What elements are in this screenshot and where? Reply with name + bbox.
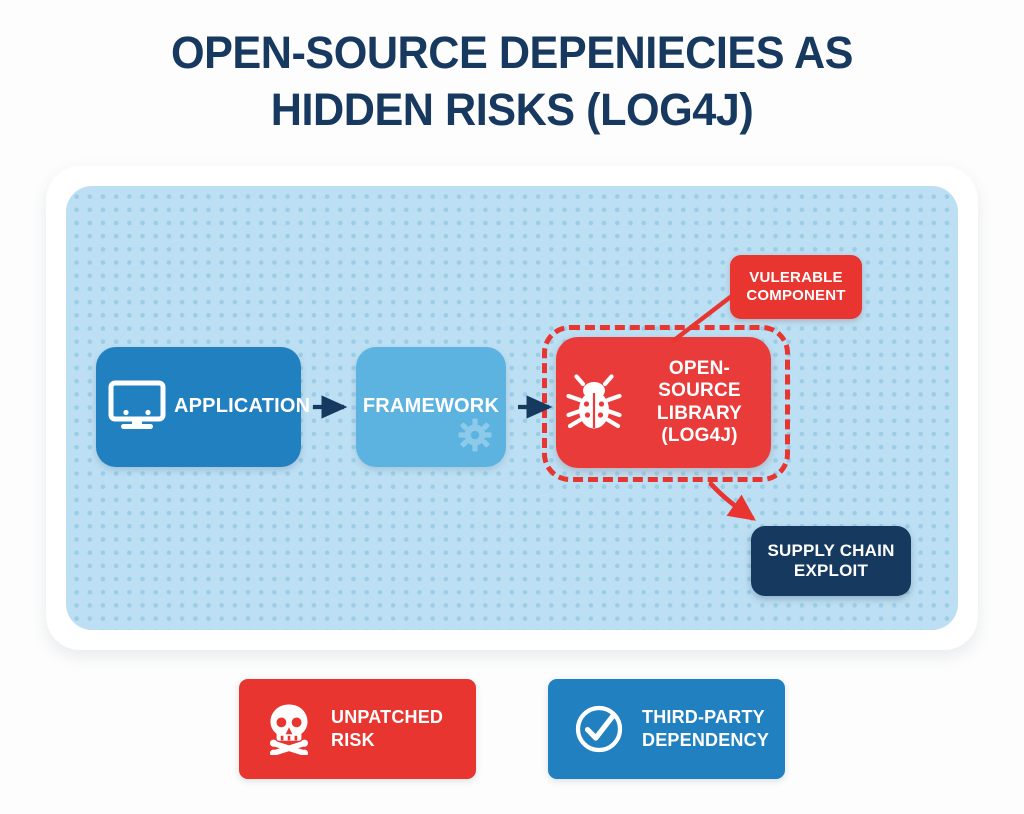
- page-title: OPEN-SOURCE DEPENIECIES AS HIDDEN RISKS …: [0, 24, 1024, 138]
- node-exploit-label-line-2: EXPLOIT: [794, 561, 868, 580]
- legend: UNPATCHED RISK THIRD-PARTY DEPENDENCY: [0, 679, 1024, 779]
- gear-icon: [458, 418, 492, 457]
- callout-vulnerable-component[interactable]: VULERABLE COMPONENT: [730, 255, 862, 319]
- legend-unpatched-line-1: UNPATCHED: [331, 707, 443, 727]
- node-exploit-label: SUPPLY CHAIN EXPLOIT: [767, 541, 894, 581]
- check-circle-icon: [574, 704, 624, 754]
- legend-unpatched-line-2: RISK: [331, 730, 375, 750]
- callout-vulnerable-line-1: VULERABLE: [749, 269, 842, 286]
- callout-vulnerable-label: VULERABLE COMPONENT: [746, 269, 845, 304]
- infographic-canvas: OPEN-SOURCE DEPENIECIES AS HIDDEN RISKS …: [0, 0, 1024, 814]
- page-title-line-2: HIDDEN RISKS (LOG4J): [20, 81, 1003, 138]
- node-framework-label: FRAMEWORK: [363, 395, 499, 419]
- node-library-label-line-1: OPEN-SOURCE: [658, 358, 741, 401]
- node-exploit-label-line-1: SUPPLY CHAIN: [767, 541, 894, 560]
- bug-icon: [566, 374, 622, 432]
- legend-thirdparty-line-2: DEPENDENCY: [642, 730, 769, 750]
- skull-crossbones-icon: [265, 703, 313, 755]
- page-title-line-1: OPEN-SOURCE DEPENIECIES AS: [20, 24, 1003, 81]
- desktop-monitor-icon: [108, 380, 166, 434]
- node-library-label-line-2: LIBRARY: [657, 403, 742, 424]
- node-application[interactable]: APPLICATION: [96, 347, 301, 467]
- node-library-label: OPEN-SOURCE LIBRARY (LOG4J): [628, 358, 771, 448]
- node-framework[interactable]: FRAMEWORK: [356, 347, 506, 467]
- legend-unpatched-label: UNPATCHED RISK: [331, 706, 443, 753]
- node-open-source-library[interactable]: OPEN-SOURCE LIBRARY (LOG4J): [556, 337, 771, 468]
- legend-item-third-party-dependency[interactable]: THIRD-PARTY DEPENDENCY: [548, 679, 785, 779]
- legend-item-unpatched-risk[interactable]: UNPATCHED RISK: [239, 679, 476, 779]
- legend-thirdparty-line-1: THIRD-PARTY: [642, 707, 765, 727]
- legend-thirdparty-label: THIRD-PARTY DEPENDENCY: [642, 706, 769, 753]
- node-application-label: APPLICATION: [174, 395, 310, 419]
- node-library-label-line-3: (LOG4J): [661, 425, 737, 446]
- node-supply-chain-exploit[interactable]: SUPPLY CHAIN EXPLOIT: [751, 526, 911, 596]
- callout-vulnerable-line-2: COMPONENT: [746, 287, 845, 304]
